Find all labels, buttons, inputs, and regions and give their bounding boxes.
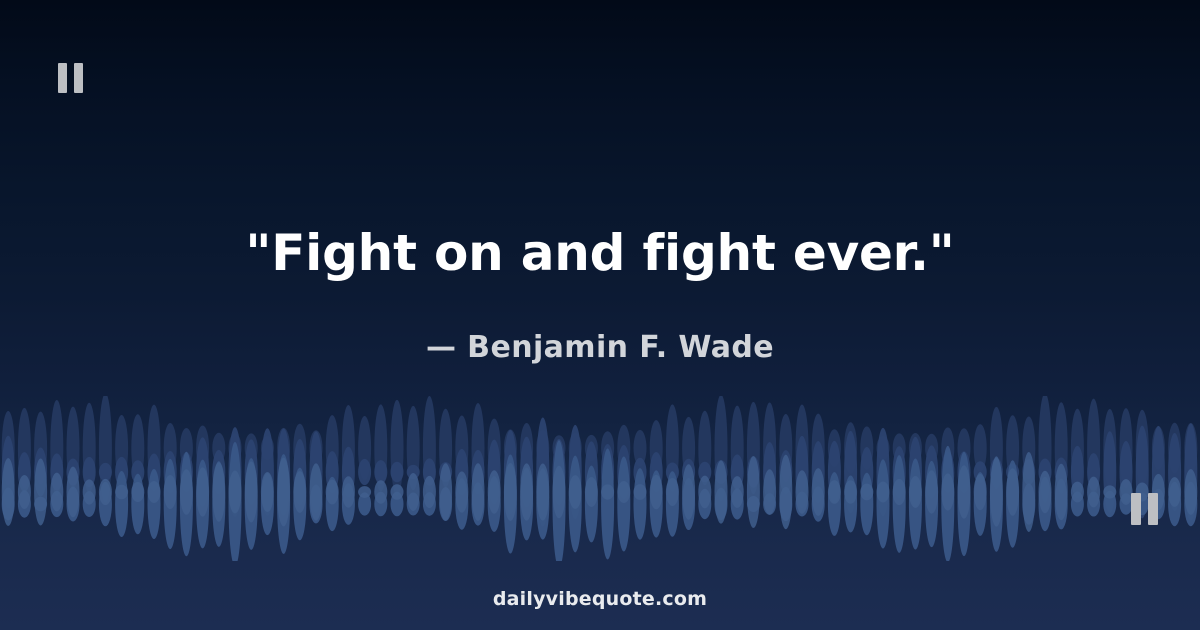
quote-text: "Fight on and fight ever." [100, 224, 1100, 283]
quote-bar-right [74, 63, 83, 93]
waveform-svg [0, 396, 1200, 561]
quote-bar-left [1131, 493, 1141, 525]
quote-author: — Benjamin F. Wade [100, 330, 1100, 365]
audio-waveform-graphic [0, 396, 1200, 561]
site-watermark: dailyvibequote.com [0, 588, 1200, 610]
waveform-layer-accent-layer [0, 452, 1200, 532]
waveform-layer-front-layer [0, 440, 1200, 561]
quote-bar-left [58, 63, 67, 93]
quote-card: "Fight on and fight ever." — Benjamin F.… [0, 0, 1200, 630]
waveform-layer-back-layer [0, 396, 1200, 503]
quote-mark-top-icon [58, 63, 83, 93]
quote-bar-right [1148, 493, 1158, 525]
quote-mark-bottom-icon [1131, 493, 1158, 525]
